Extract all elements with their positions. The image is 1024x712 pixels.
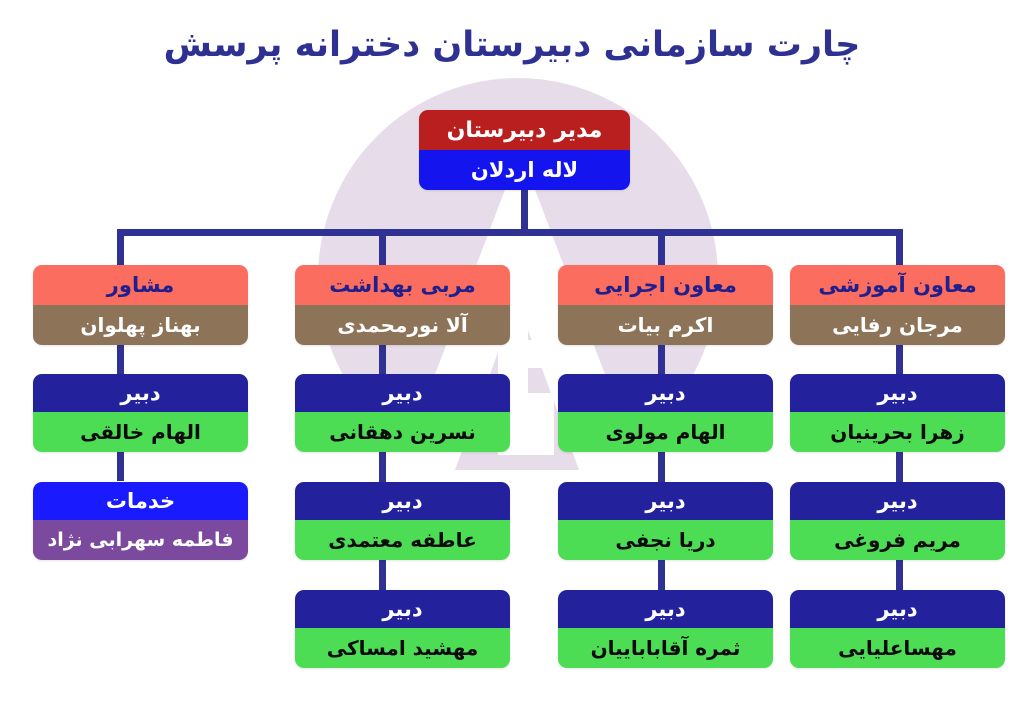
node-principal[interactable]: مدیر دبیرستان لاله اردلان [419,110,630,190]
node-child-column-1-0-role: دبیر [33,374,248,412]
node-child-column-2-1[interactable]: دبیر عاطفه معتمدی [295,482,510,560]
node-child-column-4-0-name: زهرا بحرینیان [790,412,1005,452]
node-head-column-3-role: معاون اجرایی [558,265,773,305]
connector-horizontal-bus [117,229,903,236]
connector-drop-column-1 [117,229,124,269]
node-child-column-1-1-role: خدمات [33,482,248,520]
node-head-column-2-role: مربی بهداشت [295,265,510,305]
connector-root-stem [521,190,528,232]
org-chart-canvas: چارت سازمانی دبیرستان دخترانه پرسش مدیر … [0,0,1024,712]
node-head-column-2[interactable]: مربی بهداشت آلا نورمحمدی [295,265,510,345]
node-child-column-2-1-role: دبیر [295,482,510,520]
node-child-column-1-1-name: فاطمه سهرابی نژاد [33,520,248,560]
node-child-column-2-0-name: نسرین دهقانی [295,412,510,452]
node-child-column-1-1[interactable]: خدمات فاطمه سهرابی نژاد [33,482,248,560]
node-child-column-4-0-role: دبیر [790,374,1005,412]
node-child-column-3-1-role: دبیر [558,482,773,520]
node-child-column-3-2[interactable]: دبیر ثمره آقاباباییان [558,590,773,668]
node-child-column-3-1[interactable]: دبیر دریا نجفی [558,482,773,560]
node-head-column-3[interactable]: معاون اجرایی اکرم بیات [558,265,773,345]
node-head-column-1-role: مشاور [33,265,248,305]
node-child-column-3-0-role: دبیر [558,374,773,412]
node-head-column-4-role: معاون آموزشی [790,265,1005,305]
node-child-column-3-1-name: دریا نجفی [558,520,773,560]
node-child-column-2-1-name: عاطفه معتمدی [295,520,510,560]
node-child-column-4-0[interactable]: دبیر زهرا بحرینیان [790,374,1005,452]
node-child-column-4-1-name: مریم فروغی [790,520,1005,560]
node-child-column-1-0[interactable]: دبیر الهام خالقی [33,374,248,452]
node-child-column-3-0[interactable]: دبیر الهام مولوی [558,374,773,452]
node-principal-role: مدیر دبیرستان [419,110,630,150]
node-child-column-4-2-name: مهساعلیایی [790,628,1005,668]
node-principal-name: لاله اردلان [419,150,630,190]
node-child-column-3-0-name: الهام مولوی [558,412,773,452]
node-child-column-2-2[interactable]: دبیر مهشید امساکی [295,590,510,668]
node-child-column-1-0-name: الهام خالقی [33,412,248,452]
node-child-column-2-2-name: مهشید امساکی [295,628,510,668]
node-head-column-4-name: مرجان رفایی [790,305,1005,345]
node-child-column-4-1-role: دبیر [790,482,1005,520]
connector-drop-column-4 [896,229,903,269]
node-head-column-1[interactable]: مشاور بهناز پهلوان [33,265,248,345]
node-child-column-2-0[interactable]: دبیر نسرین دهقانی [295,374,510,452]
node-child-column-2-2-role: دبیر [295,590,510,628]
connector-drop-column-3 [658,229,665,269]
page-title: چارت سازمانی دبیرستان دخترانه پرسش [0,24,1024,67]
node-child-column-3-2-name: ثمره آقاباباییان [558,628,773,668]
node-child-column-4-2-role: دبیر [790,590,1005,628]
node-child-column-2-0-role: دبیر [295,374,510,412]
node-head-column-4[interactable]: معاون آموزشی مرجان رفایی [790,265,1005,345]
node-child-column-3-2-role: دبیر [558,590,773,628]
node-head-column-1-name: بهناز پهلوان [33,305,248,345]
node-child-column-4-2[interactable]: دبیر مهساعلیایی [790,590,1005,668]
connector-drop-column-2 [379,229,386,269]
node-head-column-2-name: آلا نورمحمدی [295,305,510,345]
node-child-column-4-1[interactable]: دبیر مریم فروغی [790,482,1005,560]
node-head-column-3-name: اکرم بیات [558,305,773,345]
